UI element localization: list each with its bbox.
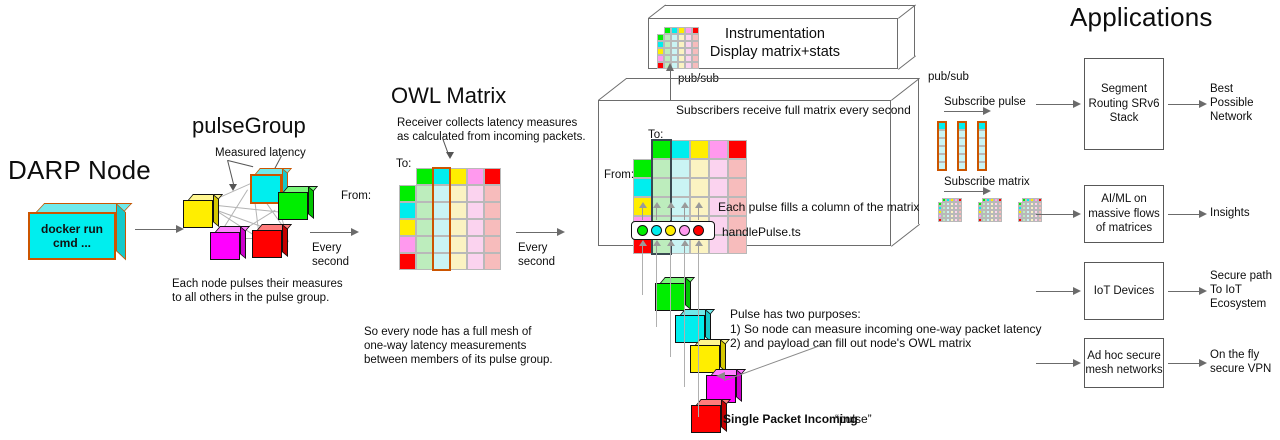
label-pulse-quoted: “pulse” xyxy=(835,412,872,427)
matrix-row-label-cell xyxy=(399,202,416,219)
application-box[interactable]: Segment Routing SRv6 Stack xyxy=(1084,58,1164,150)
application-outcome: On the fly secure VPN xyxy=(1210,348,1271,376)
matrix-cell xyxy=(450,202,467,219)
matrix-cell xyxy=(685,34,692,41)
pulse-dot-cyan xyxy=(651,225,662,236)
strip-outline xyxy=(937,121,947,171)
cube-side-face xyxy=(685,277,691,310)
matrix-cell xyxy=(685,62,692,69)
pulse-dot-red xyxy=(693,225,704,236)
matrix-row-label-cell xyxy=(399,185,416,202)
caption-subscribers-receive: Subscribers receive full matrix every se… xyxy=(676,103,911,118)
pulse-feed-arrow-line xyxy=(670,207,671,220)
pulse-feed-arrow-line xyxy=(642,207,643,220)
label-owl-to: To: xyxy=(396,157,411,171)
cube-front-face xyxy=(183,200,213,228)
matrix-header-cell xyxy=(709,140,728,159)
matrix-cell xyxy=(678,41,685,48)
caption-full-mesh: So every node has a full mesh of one-way… xyxy=(364,325,553,367)
arrow-docker-to-pulsegroup xyxy=(135,229,177,230)
matrix-header-cell xyxy=(416,168,433,185)
pulse-dot-pink xyxy=(679,225,690,236)
matrix-header-cell xyxy=(450,168,467,185)
cube-side-face xyxy=(308,186,314,219)
pulse-intake-arrow-head xyxy=(653,240,661,246)
arrow-head-pulsegroup xyxy=(351,228,359,236)
thumb-cell xyxy=(958,218,962,222)
matrix-cell xyxy=(728,159,747,178)
arrow-head-to-outcome xyxy=(1199,359,1207,367)
matrix-cell xyxy=(692,41,699,48)
packet-trail-line xyxy=(642,253,643,295)
page-title-darp-node: DARP Node xyxy=(8,155,151,187)
matrix-cell xyxy=(664,41,671,48)
matrix-row-label-cell xyxy=(399,236,416,253)
label-handle-pulse: handlePulse.ts xyxy=(722,225,801,240)
instrumentation-box-back-right xyxy=(914,5,915,56)
arrow-to-application xyxy=(1036,214,1074,215)
matrix-cell xyxy=(678,55,685,62)
matrix-cell xyxy=(467,202,484,219)
label-measured-latency: Measured latency xyxy=(215,146,306,160)
arrow-head-subscribe-pulse xyxy=(983,107,991,115)
matrix-header-cell xyxy=(685,27,692,34)
matrix-cell xyxy=(692,55,699,62)
arrow-head-owl xyxy=(557,228,565,236)
incoming-cube-red xyxy=(691,405,721,433)
caption-each-pulse-fills: Each pulse fills a column of the matrix xyxy=(718,200,919,215)
matrix-cell xyxy=(450,185,467,202)
matrix-header-cell xyxy=(671,27,678,34)
matrix-cell xyxy=(416,236,433,253)
arrow-head-to-outcome xyxy=(1199,210,1207,218)
pulse-intake-arrow-head xyxy=(639,240,647,246)
matrix-cell xyxy=(692,62,699,69)
matrix-cell xyxy=(709,159,728,178)
packet-trail-line xyxy=(670,253,671,357)
matrix-row-label-cell xyxy=(657,41,664,48)
packet-trail-line xyxy=(656,253,657,327)
docker-node-cube: docker run cmd ... xyxy=(28,212,116,260)
matrix-cell xyxy=(685,48,692,55)
matrix-cell xyxy=(709,178,728,197)
matrix-cell xyxy=(671,178,690,197)
matrix-cell xyxy=(664,48,671,55)
packet-trail-line xyxy=(698,253,699,417)
matrix-cell xyxy=(692,34,699,41)
matrix-highlighted-column xyxy=(432,167,451,271)
matrix-header-cell xyxy=(484,168,501,185)
matrix-cell xyxy=(690,159,709,178)
node-box-top-left-edge xyxy=(598,78,627,101)
application-box[interactable]: IoT Devices xyxy=(1084,262,1164,320)
cube-front-face xyxy=(278,192,308,220)
matrix-cell xyxy=(416,202,433,219)
pulsegroup-node-green xyxy=(278,192,308,220)
arrow-to-outcome xyxy=(1168,291,1200,292)
arrow-to-outcome xyxy=(1168,214,1200,215)
matrix-header-cell xyxy=(692,27,699,34)
matrix-cell xyxy=(484,253,501,270)
pulse-feed-arrow-head xyxy=(681,202,689,208)
label-owl-from: From: xyxy=(341,189,371,203)
matrix-cell xyxy=(664,34,671,41)
pulse-dot-green xyxy=(637,225,648,236)
cube-side-face xyxy=(720,339,726,372)
pulse-dot-yellow xyxy=(665,225,676,236)
cube-front-face: docker run cmd ... xyxy=(28,212,116,260)
pulse-feed-arrow-line xyxy=(656,207,657,220)
arrow-head-pulse-purposes xyxy=(716,372,725,380)
arrow-head-to-outcome xyxy=(1199,287,1207,295)
pulse-feed-arrow-head xyxy=(695,202,703,208)
instrumentation-box-top-back xyxy=(665,5,915,6)
arrow-head-pubsub-up xyxy=(666,63,674,71)
matrix-cell xyxy=(467,185,484,202)
cube-side-face xyxy=(116,203,126,260)
pulse-feed-arrow-head xyxy=(653,202,661,208)
matrix-cell xyxy=(671,159,690,178)
instrumentation-box-bottom-right xyxy=(898,55,916,69)
matrix-header-cell xyxy=(728,140,747,159)
matrix-cell xyxy=(664,55,671,62)
matrix-row-label-cell xyxy=(657,48,664,55)
label-pubsub-right: pub/sub xyxy=(928,70,969,84)
instrumentation-box-top-edge xyxy=(648,4,666,18)
arrow-head-to-outcome xyxy=(1199,100,1207,108)
matrix-row-label-cell xyxy=(657,34,664,41)
matrix-cell xyxy=(671,41,678,48)
docker-cmd-line2: cmd ... xyxy=(53,236,91,250)
arrow-head-latency-left xyxy=(229,184,237,191)
arrow-pulsegroup-to-owl xyxy=(310,232,352,233)
cube-front-face xyxy=(691,405,721,433)
matrix-cell xyxy=(728,178,747,197)
thumb-cell xyxy=(998,218,1002,222)
pulse-feed-arrow-head xyxy=(639,202,647,208)
section-title-pulsegroup: pulseGroup xyxy=(192,113,306,140)
arrow-head-to-application xyxy=(1073,100,1081,108)
matrix-cell xyxy=(671,48,678,55)
matrix-row-label-cell xyxy=(633,178,652,197)
cube-front-face xyxy=(210,232,240,260)
pulse-feed-arrow-head xyxy=(667,202,675,208)
matrix-cell xyxy=(678,48,685,55)
pulse-intake-arrow-head xyxy=(667,240,675,246)
pulse-feed-arrow-line xyxy=(684,207,685,220)
matrix-header-cell xyxy=(664,27,671,34)
node-box-top-back xyxy=(626,78,919,79)
matrix-header-cell xyxy=(467,168,484,185)
matrix-cell xyxy=(692,48,699,55)
matrix-cell xyxy=(690,178,709,197)
cube-side-face xyxy=(240,226,246,259)
matrix-cell xyxy=(416,253,433,270)
arrow-head-to-application xyxy=(1073,287,1081,295)
application-outcome: Insights xyxy=(1210,206,1250,220)
matrix-header-cell xyxy=(678,27,685,34)
node-box-bottom-right-edge xyxy=(891,224,920,247)
matrix-row-label-cell xyxy=(633,159,652,178)
arrow-to-application xyxy=(1036,363,1074,364)
matrix-cell xyxy=(467,236,484,253)
arrow-subscribe-pulse xyxy=(944,111,984,112)
matrix-cell xyxy=(484,185,501,202)
label-pubsub-left: pub/sub xyxy=(678,72,719,86)
arrow-latency-left xyxy=(228,160,254,168)
matrix-cell xyxy=(484,202,501,219)
cube-side-face xyxy=(282,224,288,257)
arrow-head-receiver-pointer xyxy=(446,152,454,159)
matrix-row-label-cell xyxy=(657,55,664,62)
thumb-cell xyxy=(1038,218,1042,222)
matrix-cell xyxy=(467,219,484,236)
label-every-second-1: Every second xyxy=(312,241,349,269)
arrow-subscribe-matrix xyxy=(944,191,984,192)
application-box[interactable]: Ad hoc secure mesh networks xyxy=(1084,338,1164,388)
cube-front-face xyxy=(252,230,282,258)
pulsegroup-node-magenta xyxy=(210,232,240,260)
arrow-head-subscribe-matrix xyxy=(983,187,991,195)
matrix-cell xyxy=(416,185,433,202)
arrow-to-application xyxy=(1036,291,1074,292)
pulse-intake-arrow-head xyxy=(681,240,689,246)
strip-outline xyxy=(957,121,967,171)
matrix-cell xyxy=(467,253,484,270)
label-center-from: From: xyxy=(604,168,634,182)
matrix-cell xyxy=(678,34,685,41)
section-title-applications: Applications xyxy=(1070,2,1213,34)
matrix-cell xyxy=(484,219,501,236)
caption-pulse-purposes: Pulse has two purposes: 1) So node can m… xyxy=(730,307,1042,351)
matrix-cell xyxy=(416,219,433,236)
application-outcome: Best Possible Network xyxy=(1210,82,1253,124)
pulsegroup-node-red xyxy=(252,230,282,258)
matrix-cell xyxy=(484,236,501,253)
node-box-top-right-edge xyxy=(891,78,920,101)
label-every-second-2: Every second xyxy=(518,241,555,269)
strip-outline xyxy=(977,121,987,171)
caption-each-node-pulses: Each node pulses their measures to all o… xyxy=(172,277,343,305)
arrow-to-outcome xyxy=(1168,363,1200,364)
arrow-head-to-application xyxy=(1073,210,1081,218)
pulse-intake-arrow-head xyxy=(695,240,703,246)
pulsegroup-node-yellow xyxy=(183,200,213,228)
section-title-owl-matrix: OWL Matrix xyxy=(391,83,506,110)
arrow-owl-to-center xyxy=(516,232,558,233)
application-box[interactable]: AI/ML on massive flows of matrices xyxy=(1084,185,1164,243)
caption-receiver-collects: Receiver collects latency measures as ca… xyxy=(397,116,586,144)
matrix-cell xyxy=(450,219,467,236)
matrix-row-label-cell xyxy=(399,253,416,270)
arrow-head-to-application xyxy=(1073,359,1081,367)
matrix-cell xyxy=(678,62,685,69)
arrow-to-application xyxy=(1036,104,1074,105)
arrow-to-outcome xyxy=(1168,104,1200,105)
matrix-row-label-cell xyxy=(399,219,416,236)
pulse-feed-arrow-line xyxy=(698,207,699,220)
cube-side-face xyxy=(213,194,219,227)
matrix-header-cell xyxy=(671,140,690,159)
cube-side-face xyxy=(705,309,711,342)
matrix-cell xyxy=(685,41,692,48)
matrix-cell xyxy=(450,253,467,270)
matrix-cell xyxy=(685,55,692,62)
matrix-cell xyxy=(671,34,678,41)
instrumentation-title: Instrumentation xyxy=(710,26,840,44)
application-outcome: Secure path To IoT Ecosystem xyxy=(1210,269,1272,311)
packet-trail-line xyxy=(684,253,685,387)
matrix-header-cell xyxy=(690,140,709,159)
matrix-cell xyxy=(671,55,678,62)
docker-cmd-line1: docker run xyxy=(41,222,103,236)
instrumentation-subtitle: Display matrix+stats xyxy=(700,44,850,62)
matrix-row-label-cell xyxy=(657,62,664,69)
matrix-cell xyxy=(450,236,467,253)
